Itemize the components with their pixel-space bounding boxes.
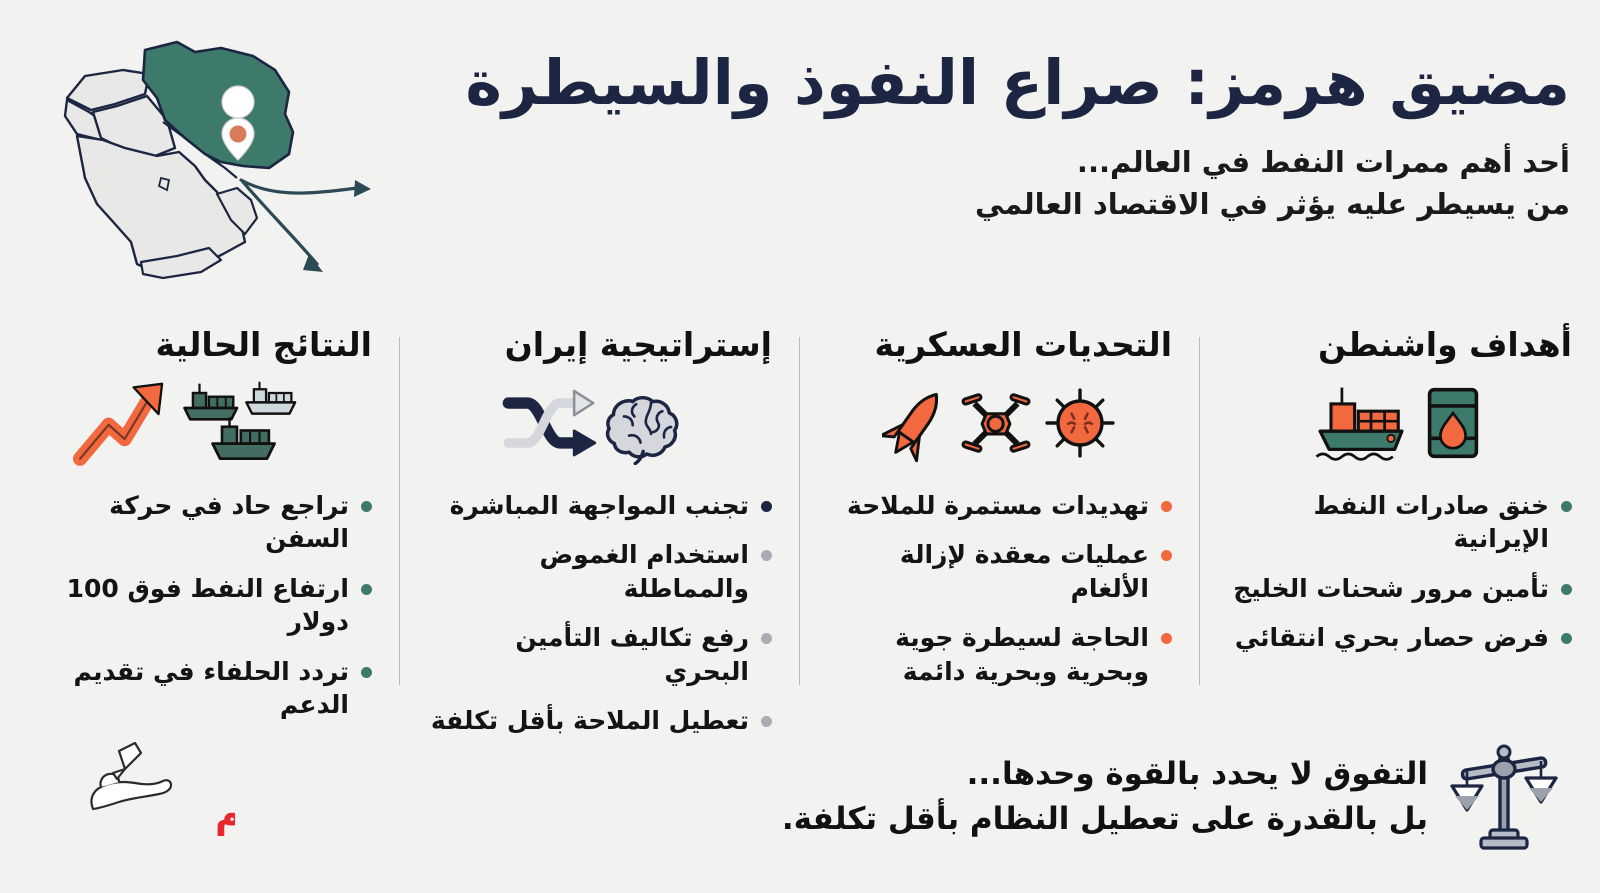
drone-icon xyxy=(956,385,1036,461)
bullet-dot xyxy=(1561,584,1572,595)
subtitle-line-2: من يسيطر عليه يؤثر في الاقتصاد العالمي xyxy=(390,183,1570,225)
infographic-page: مضيق هرمز: صراع النفوذ والسيطرة أحد أهم … xyxy=(0,0,1600,893)
footer-line-2: بل بالقدرة على تعطيل النظام بأقل تكلفة. xyxy=(782,797,1428,842)
map-flow-arrows xyxy=(241,180,357,264)
middle-east-map xyxy=(45,28,390,288)
list-item: تجنب المواجهة المباشرة xyxy=(428,489,772,523)
oil-barrel-icon xyxy=(1417,382,1489,464)
map-arrow-head-east xyxy=(354,180,371,197)
column-washington-goals: أهداف واشنطن xyxy=(1200,325,1600,690)
bullet-dot xyxy=(1161,501,1172,512)
list-item: تهديدات مستمرة للملاحة xyxy=(828,489,1172,523)
bullet-text: ارتفاع النفط فوق 100 دولار xyxy=(28,572,349,639)
bullet-text: عمليات معقدة لإزالة الألغام xyxy=(828,538,1149,605)
brain-icon xyxy=(603,381,699,465)
bullet-text: تهديدات مستمرة للملاحة xyxy=(828,489,1149,523)
bullet-text: خنق صادرات النفط الإيرانية xyxy=(1228,489,1549,556)
map-arrow-head-south xyxy=(303,254,323,272)
cargo-ship-icon xyxy=(246,381,295,413)
balance-scale-icon xyxy=(1450,742,1560,852)
bullet-dot xyxy=(1161,633,1172,644)
missile-icon xyxy=(882,383,950,463)
title-block: مضيق هرمز: صراع النفوذ والسيطرة أحد أهم … xyxy=(390,50,1570,225)
list-item: عمليات معقدة لإزالة الألغام xyxy=(828,538,1172,605)
column-title-iran-strategy: إستراتيجية إيران xyxy=(428,325,772,365)
cargo-ship-icon xyxy=(213,417,275,458)
map-svg xyxy=(45,28,390,288)
cargo-ship-icon xyxy=(185,383,238,419)
page-title: مضيق هرمز: صراع النفوذ والسيطرة xyxy=(390,50,1570,115)
hand-writing-pen-icon: أخر الكلام xyxy=(55,735,235,845)
bullet-text: الحاجة لسيطرة جوية وبحرية وبحرية دائمة xyxy=(828,621,1149,688)
brand-logo[interactable]: أخر الكلام xyxy=(55,735,235,845)
column-title-washington-goals: أهداف واشنطن xyxy=(1228,325,1572,365)
rising-arrow-icon xyxy=(73,378,171,468)
shuffle-arrows-icon xyxy=(501,384,597,462)
bullet-dot xyxy=(361,501,372,512)
bullet-list-military-challenges: تهديدات مستمرة للملاحة عمليات معقدة لإزا… xyxy=(828,489,1172,689)
list-item: تأمين مرور شحنات الخليج xyxy=(1228,572,1572,606)
icon-row-washington-goals xyxy=(1228,373,1572,473)
column-military-challenges: التحديات العسكرية xyxy=(800,325,1200,690)
list-item: استخدام الغموض والمماطلة xyxy=(428,538,772,605)
footer-conclusion: التفوق لا يحدد بالقوة وحدها... بل بالقدر… xyxy=(782,742,1560,852)
bullet-dot xyxy=(361,584,372,595)
list-item: الحاجة لسيطرة جوية وبحرية وبحرية دائمة xyxy=(828,621,1172,688)
column-current-results: النتائج الحالية xyxy=(0,325,400,690)
list-item: ارتفاع النفط فوق 100 دولار xyxy=(28,572,372,639)
bullet-text: تأمين مرور شحنات الخليج xyxy=(1228,572,1549,606)
footer-section: أخر الكلام xyxy=(0,700,1600,893)
column-title-current-results: النتائج الحالية xyxy=(28,325,372,365)
icon-row-current-results xyxy=(28,373,372,473)
column-title-military-challenges: التحديات العسكرية xyxy=(828,325,1172,365)
icon-row-iran-strategy xyxy=(428,373,772,473)
bullet-text: رفع تكاليف التأمين البحري xyxy=(428,621,749,688)
list-item: رفع تكاليف التأمين البحري xyxy=(428,621,772,688)
footer-text-block: التفوق لا يحدد بالقوة وحدها... بل بالقدر… xyxy=(782,752,1428,842)
header-section: مضيق هرمز: صراع النفوذ والسيطرة أحد أهم … xyxy=(0,0,1600,310)
logo-arabic-text: أخر الكلام xyxy=(215,789,235,837)
icon-row-military-challenges xyxy=(828,373,1172,473)
ships-group-icon xyxy=(177,376,327,470)
bullet-list-washington-goals: خنق صادرات النفط الإيرانية تأمين مرور شح… xyxy=(1228,489,1572,655)
bullet-dot xyxy=(1161,550,1172,561)
bullet-text: فرض حصار بحري انتقائي xyxy=(1228,621,1549,655)
svg-text:أخر الكلام: أخر الكلام xyxy=(215,789,235,837)
subtitle-line-1: أحد أهم ممرات النفط في العالم... xyxy=(390,141,1570,183)
bullet-text: تجنب المواجهة المباشرة xyxy=(428,489,749,523)
bullet-dot xyxy=(361,667,372,678)
bullet-dot xyxy=(761,550,772,561)
bullet-dot xyxy=(1561,633,1572,644)
cargo-ship-icon xyxy=(1311,382,1411,464)
bullet-dot xyxy=(1561,501,1572,512)
list-item: تراجع حاد في حركة السفن xyxy=(28,489,372,556)
bullet-dot xyxy=(761,633,772,644)
list-item: خنق صادرات النفط الإيرانية xyxy=(1228,489,1572,556)
list-item: فرض حصار بحري انتقائي xyxy=(1228,621,1572,655)
naval-mine-icon xyxy=(1042,385,1118,461)
bullet-text: استخدام الغموض والمماطلة xyxy=(428,538,749,605)
bullet-list-current-results: تراجع حاد في حركة السفن ارتفاع النفط فوق… xyxy=(28,489,372,722)
bullet-dot xyxy=(761,501,772,512)
columns-section: أهداف واشنطن xyxy=(0,325,1600,690)
footer-line-1: التفوق لا يحدد بالقوة وحدها... xyxy=(782,752,1428,797)
bullet-text: تراجع حاد في حركة السفن xyxy=(28,489,349,556)
column-iran-strategy: إستراتيجية إيران xyxy=(400,325,800,690)
